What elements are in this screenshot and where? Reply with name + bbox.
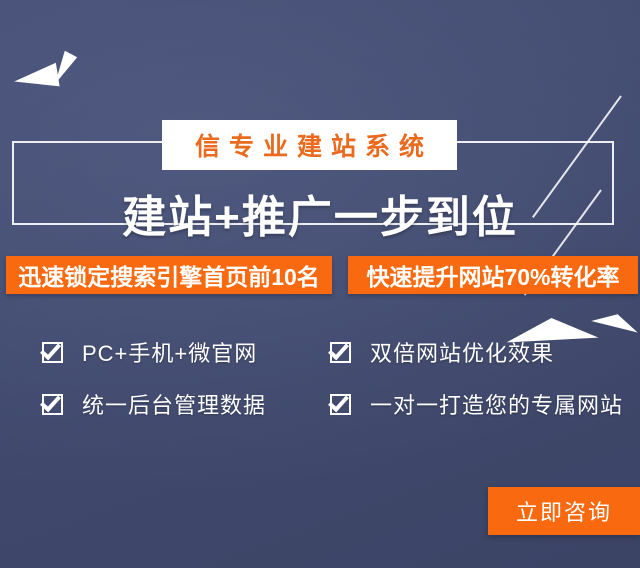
checkbox-checked-icon: [330, 392, 354, 416]
consult-now-button-label: 立即咨询: [516, 495, 612, 527]
feature-label: PC+手机+微官网: [82, 336, 257, 368]
feature-label: 统一后台管理数据: [82, 388, 266, 420]
feature-label: 一对一打造您的专属网站: [370, 388, 623, 420]
promo-banner: 信专业建站系统 建站+推广一步到位 迅速锁定搜索引擎首页前10名 快速提升网站7…: [0, 0, 640, 568]
highlight-strip-seo-ranking: 迅速锁定搜索引擎首页前10名: [6, 256, 332, 294]
checkbox-checked-icon: [330, 340, 354, 364]
triangle-arrow-icon-right-small: [591, 308, 640, 332]
consult-now-button[interactable]: 立即咨询: [488, 487, 640, 535]
feature-list: PC+手机+微官网 双倍网站优化效果 统一后台管理数据 一对一打造您的专属网站: [0, 330, 640, 426]
checkbox-checked-icon: [42, 392, 66, 416]
tagline-badge: 信专业建站系统: [162, 120, 457, 170]
highlight-strip-conversion-rate: 快速提升网站70%转化率: [348, 256, 638, 294]
tagline-badge-text: 信专业建站系统: [186, 127, 433, 163]
highlight-strip-text: 快速提升网站70%转化率: [366, 258, 619, 292]
page-title: 建站+推广一步到位: [0, 181, 640, 245]
list-item: 一对一打造您的专属网站: [330, 388, 623, 420]
list-item: 统一后台管理数据: [42, 388, 266, 420]
list-item: 双倍网站优化效果: [330, 336, 554, 368]
highlight-strip-text: 迅速锁定搜索引擎首页前10名: [18, 258, 320, 292]
triangle-arrow-icon-top-left-small: [49, 51, 77, 88]
feature-label: 双倍网站优化效果: [370, 336, 554, 368]
list-item: PC+手机+微官网: [42, 336, 257, 368]
checkbox-checked-icon: [42, 340, 66, 364]
triangle-arrow-icon-top-left-large: [12, 63, 59, 94]
